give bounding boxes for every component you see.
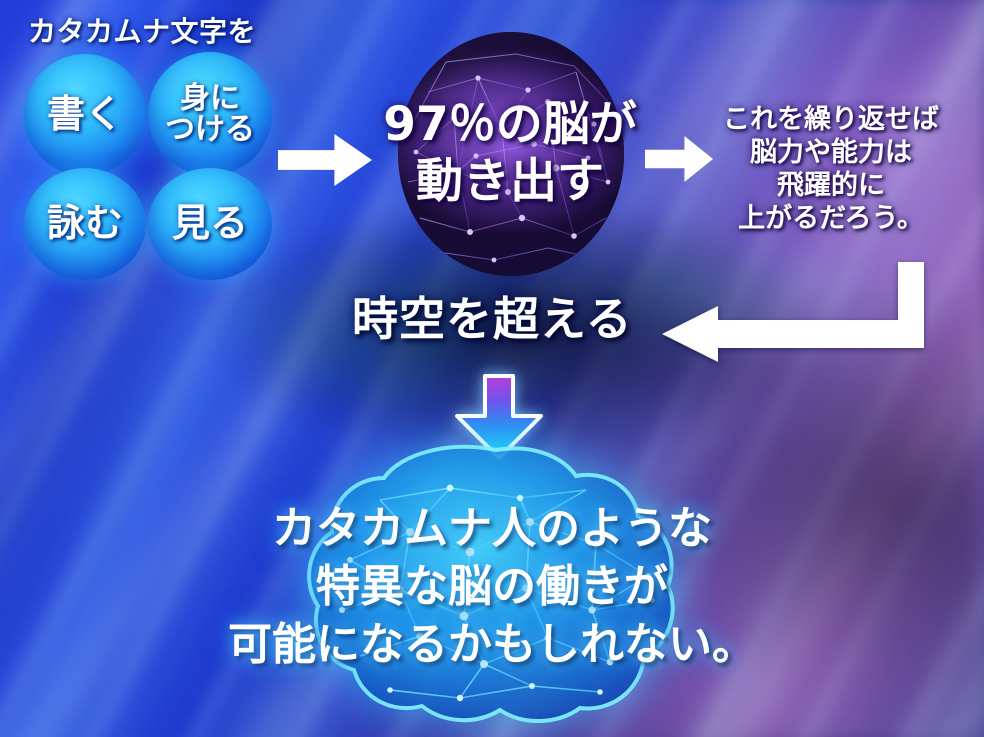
action-circle-label: 身につける xyxy=(165,83,255,145)
arrow-elbow-left-icon xyxy=(662,262,934,362)
right-caption-line4: 上がるだろう。 xyxy=(706,203,956,236)
right-caption: これを繰り返せば 脳力や能力は 飛躍的に 上がるだろう。 xyxy=(706,104,956,236)
sphere-headline-line2: 動き出す xyxy=(360,153,660,210)
poster-canvas: カタカムナ文字を 書く 身につける 詠む 見る xyxy=(0,0,984,737)
sphere-headline: 97％の脳が 動き出す xyxy=(360,96,660,211)
bottom-headline: カタカムナ人のような 特異な脳の働きが 可能になるかもしれない。 xyxy=(142,500,842,674)
action-circle-minitsukeru[interactable]: 身につける xyxy=(148,52,272,176)
right-caption-line3: 飛躍的に xyxy=(706,170,956,203)
right-caption-line1: これを繰り返せば xyxy=(706,104,956,137)
sphere-headline-line1: 97％の脳が xyxy=(360,96,660,153)
bottom-headline-line3: 可能になるかもしれない。 xyxy=(142,616,842,674)
page-title: カタカムナ文字を xyxy=(28,18,256,46)
action-circle-miru[interactable]: 見る xyxy=(148,168,272,280)
action-circle-yomu[interactable]: 詠む xyxy=(24,168,146,280)
action-circle-label: 詠む xyxy=(47,204,123,244)
action-circle-label: 見る xyxy=(172,204,248,244)
middle-headline: 時空を超える xyxy=(352,296,633,342)
action-circle-label: 書く xyxy=(47,95,123,135)
right-caption-line2: 脳力や能力は xyxy=(706,137,956,170)
action-circle-kaku[interactable]: 書く xyxy=(24,54,146,176)
bottom-headline-line1: カタカムナ人のような xyxy=(142,500,842,558)
bottom-headline-line2: 特異な脳の働きが xyxy=(142,558,842,616)
